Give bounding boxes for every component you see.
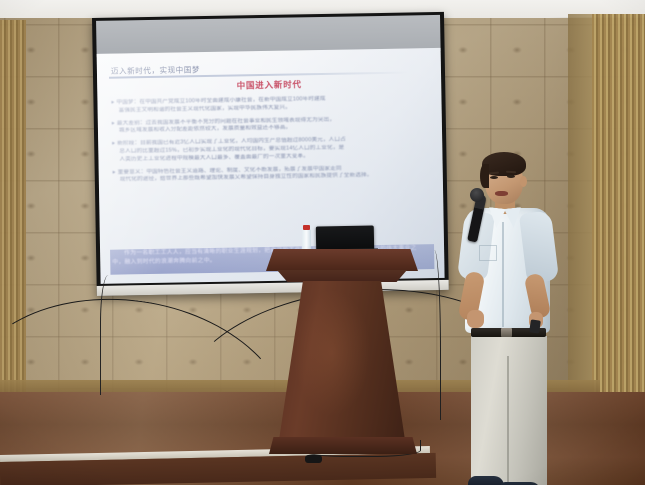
slide-heading: 中国进入新时代: [97, 76, 441, 94]
shirt-pocket: [479, 245, 497, 261]
shoe-left: [468, 476, 504, 485]
slide-bullet-list: 中国梦：在中国共产党成立100年时全面建成小康社会，在新中国成立100年时建成 …: [111, 94, 433, 190]
presenter-remote: [529, 319, 541, 333]
trousers: [471, 336, 547, 485]
wood-slat-right: [592, 14, 645, 404]
screen-side-cable: [100, 275, 121, 395]
slide-bullet: 中国梦：在中国共产党成立100年时全面建成小康社会，在新中国成立100年时建成 …: [111, 94, 431, 115]
slide-bullet: 重要意义：中国特色社会主义道路、理论、制度、文化不断发展，拓展了发展中国家走向 …: [113, 164, 433, 185]
mouth: [495, 191, 508, 196]
lectern-base: [269, 437, 417, 454]
wood-slat-right-inner: [568, 14, 594, 406]
bottle-cap: [303, 225, 310, 230]
slide-bullet: 最大差别：过去我国发展不平衡不充分的问题在社会事业和民生领域表现得尤为突出， 城…: [112, 115, 432, 136]
presenter: [455, 150, 565, 485]
projector-screen: 迈入新时代，实现中国梦 中国进入新时代 中国梦：在中国共产党成立100年时全面建…: [97, 48, 445, 284]
slide-bullet: 新阶段：目前我国已有近3亿人口实现了工业化，人均国内生产总值超过8000美元，人…: [112, 135, 432, 163]
lectern-neck: [277, 270, 407, 282]
belt-buckle: [501, 328, 512, 337]
eye-right: [507, 175, 515, 178]
shirt-placket: [502, 222, 504, 327]
hand-holding-microphone: [467, 310, 484, 328]
eye-left: [490, 176, 498, 179]
laptop: [316, 225, 374, 251]
power-plug: [305, 455, 322, 463]
lectern-top: [266, 249, 418, 271]
photo-scene: 迈入新时代，实现中国梦 中国进入新时代 中国梦：在中国共产党成立100年时全面建…: [0, 0, 645, 485]
ear: [520, 176, 527, 187]
trouser-seam: [507, 356, 509, 484]
hair-side: [480, 164, 489, 188]
